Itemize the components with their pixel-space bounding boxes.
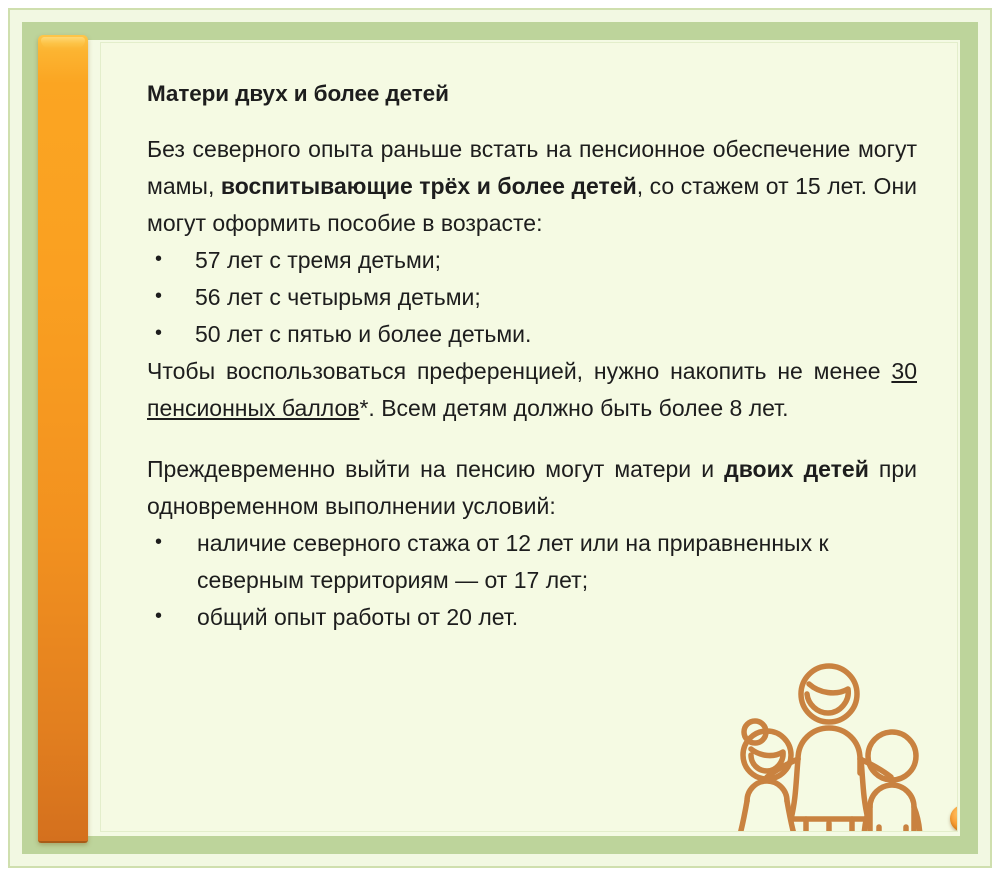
family-illustration — [720, 655, 940, 832]
section-two-bold-phrase: двоих детей — [724, 456, 869, 482]
list-item: 50 лет с пятью и более детьми. — [147, 316, 917, 353]
text-area: Матери двух и более детей Без северного … — [147, 81, 917, 636]
closing-text-part2: *. Всем детям должно быть более 8 лет. — [359, 395, 788, 421]
dot — [950, 805, 958, 832]
section-two-intro: Преждевременно выйти на пенсию могут мат… — [147, 451, 917, 525]
pension-points-dots — [913, 733, 958, 832]
section-two-text-part1: Преждевременно выйти на пенсию могут мат… — [147, 456, 724, 482]
content-panel: Матери двух и более детей Без северного … — [100, 42, 958, 832]
section-two-bullet-list: наличие северного стажа от 12 лет или на… — [147, 525, 917, 636]
section-one-bullet-list: 57 лет с тремя детьми; 56 лет с четырьмя… — [147, 242, 917, 353]
boy-figure — [864, 732, 920, 832]
page-title: Матери двух и более детей — [147, 81, 917, 107]
intro-bold-phrase: воспитывающие трёх и более детей — [221, 173, 637, 199]
list-item: общий опыт работы от 20 лет. — [147, 599, 917, 636]
family-icon — [720, 655, 940, 832]
list-item: наличие северного стажа от 12 лет или на… — [147, 525, 917, 599]
orange-accent-bar — [38, 35, 88, 843]
girl-figure — [736, 721, 798, 832]
closing-text-part1: Чтобы воспользоваться преференцией, нужн… — [147, 358, 891, 384]
section-one-closing: Чтобы воспользоваться преференцией, нужн… — [147, 353, 917, 427]
list-item: 56 лет с четырьмя детьми; — [147, 279, 917, 316]
paragraph-spacer — [147, 427, 917, 451]
slide-root: Матери двух и более детей Без северного … — [0, 0, 1000, 876]
section-one-intro: Без северного опыта раньше встать на пен… — [147, 131, 917, 242]
list-item: 57 лет с тремя детьми; — [147, 242, 917, 279]
